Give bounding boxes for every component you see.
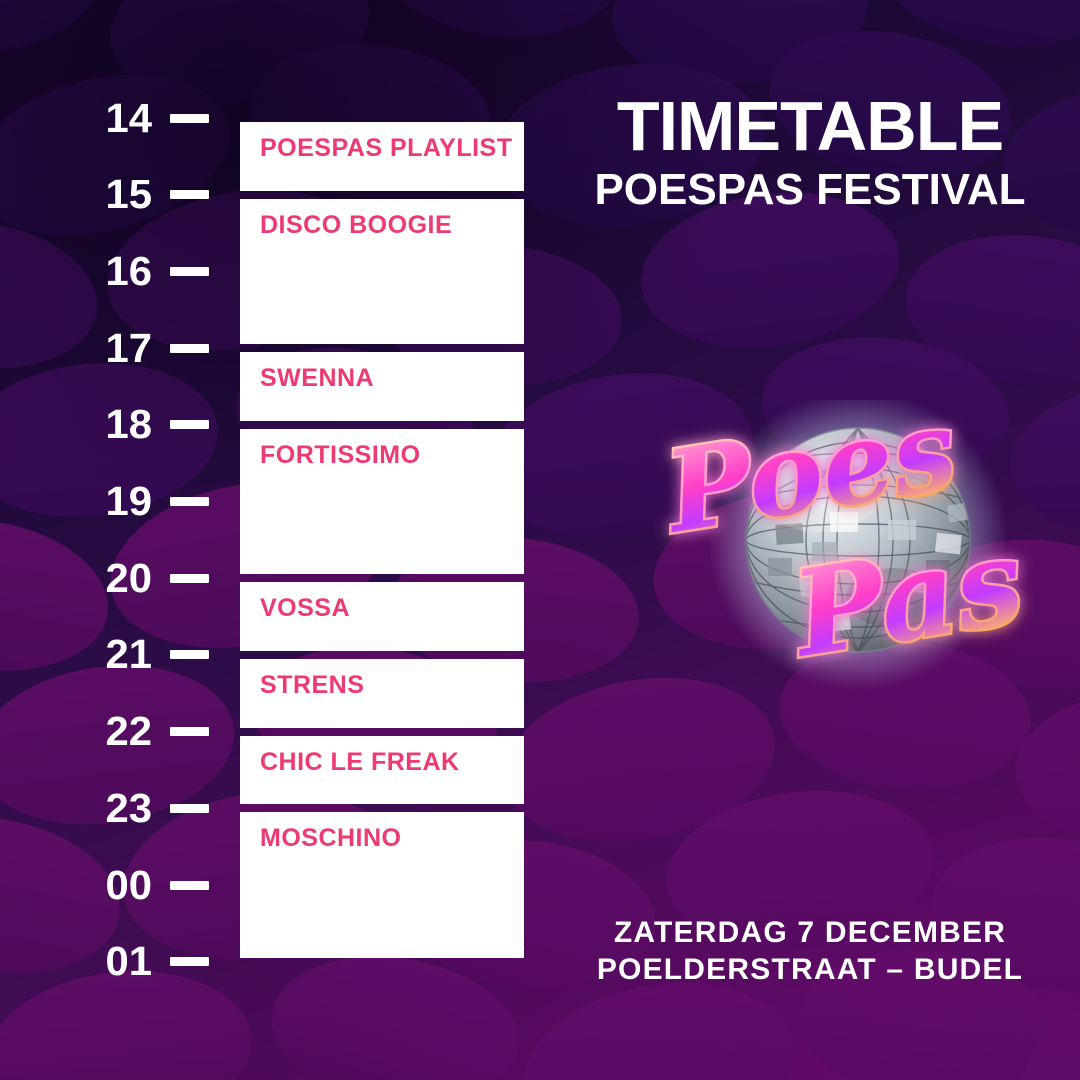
time-tick-row: 17 — [0, 328, 230, 368]
time-label: 19 — [106, 481, 153, 522]
time-label: 18 — [106, 404, 153, 445]
schedule-block[interactable]: STRENS — [240, 659, 524, 728]
event-location: POELDERSTRAAT – BUDEL — [540, 952, 1080, 989]
time-tick-row: 15 — [0, 175, 230, 215]
poster-canvas: 141516171819202122230001 POESPAS PLAYLIS… — [0, 0, 1080, 1080]
schedule-block[interactable]: FORTISSIMO — [240, 429, 524, 574]
artist-name: SWENNA — [260, 366, 374, 391]
artist-name: POESPAS PLAYLIST — [260, 136, 513, 161]
time-label: 00 — [106, 865, 153, 906]
time-tick-dash-icon — [170, 420, 209, 429]
time-label: 21 — [106, 634, 153, 675]
time-tick-dash-icon — [170, 344, 209, 353]
time-label: 23 — [106, 788, 153, 829]
artist-name: MOSCHINO — [260, 826, 402, 851]
schedule-block[interactable]: MOSCHINO — [240, 812, 524, 957]
time-tick-dash-icon — [170, 881, 209, 890]
time-label: 17 — [106, 328, 153, 369]
time-tick-dash-icon — [170, 650, 209, 659]
time-label: 20 — [106, 558, 153, 599]
page-title: TIMETABLE — [540, 92, 1080, 161]
time-label: 22 — [106, 711, 153, 752]
artist-name: DISCO BOOGIE — [260, 213, 452, 238]
schedule-block-list: POESPAS PLAYLISTDISCO BOOGIESWENNAFORTIS… — [240, 0, 524, 1080]
poster-header: TIMETABLE POESPAS FESTIVAL — [540, 92, 1080, 214]
time-tick-row: 00 — [0, 865, 230, 905]
time-label: 16 — [106, 251, 153, 292]
time-tick-dash-icon — [170, 804, 209, 813]
artist-name: VOSSA — [260, 596, 350, 621]
time-tick-row: 20 — [0, 558, 230, 598]
time-tick-dash-icon — [170, 497, 209, 506]
time-tick-dash-icon — [170, 957, 209, 966]
time-tick-row: 01 — [0, 942, 230, 982]
time-tick-row: 18 — [0, 405, 230, 445]
time-tick-row: 21 — [0, 635, 230, 675]
time-tick-dash-icon — [170, 114, 209, 123]
artist-name: STRENS — [260, 673, 364, 698]
time-tick-row: 22 — [0, 712, 230, 752]
time-tick-dash-icon — [170, 267, 209, 276]
time-tick-row: 19 — [0, 482, 230, 522]
poespas-logo: Poes Pas — [648, 400, 1040, 700]
time-tick-dash-icon — [170, 574, 209, 583]
schedule-block[interactable]: SWENNA — [240, 352, 524, 421]
time-tick-dash-icon — [170, 727, 209, 736]
logo-wordmark: Poes Pas — [655, 400, 1032, 684]
poster-footer: ZATERDAG 7 DECEMBER POELDERSTRAAT – BUDE… — [540, 915, 1080, 988]
time-tick-row: 16 — [0, 251, 230, 291]
page-subtitle: POESPAS FESTIVAL — [540, 165, 1080, 214]
artist-name: FORTISSIMO — [260, 443, 421, 468]
time-axis: 141516171819202122230001 — [0, 0, 230, 1080]
time-label: 01 — [106, 941, 153, 982]
time-tick-row: 14 — [0, 98, 230, 138]
artist-name: CHIC LE FREAK — [260, 750, 460, 775]
schedule-block[interactable]: VOSSA — [240, 582, 524, 651]
schedule-block[interactable]: POESPAS PLAYLIST — [240, 122, 524, 191]
time-tick-row: 23 — [0, 788, 230, 828]
time-label: 15 — [106, 174, 153, 215]
schedule-block[interactable]: DISCO BOOGIE — [240, 199, 524, 344]
event-date: ZATERDAG 7 DECEMBER — [540, 915, 1080, 952]
time-label: 14 — [106, 98, 153, 139]
schedule-block[interactable]: CHIC LE FREAK — [240, 736, 524, 805]
time-tick-dash-icon — [170, 190, 209, 199]
